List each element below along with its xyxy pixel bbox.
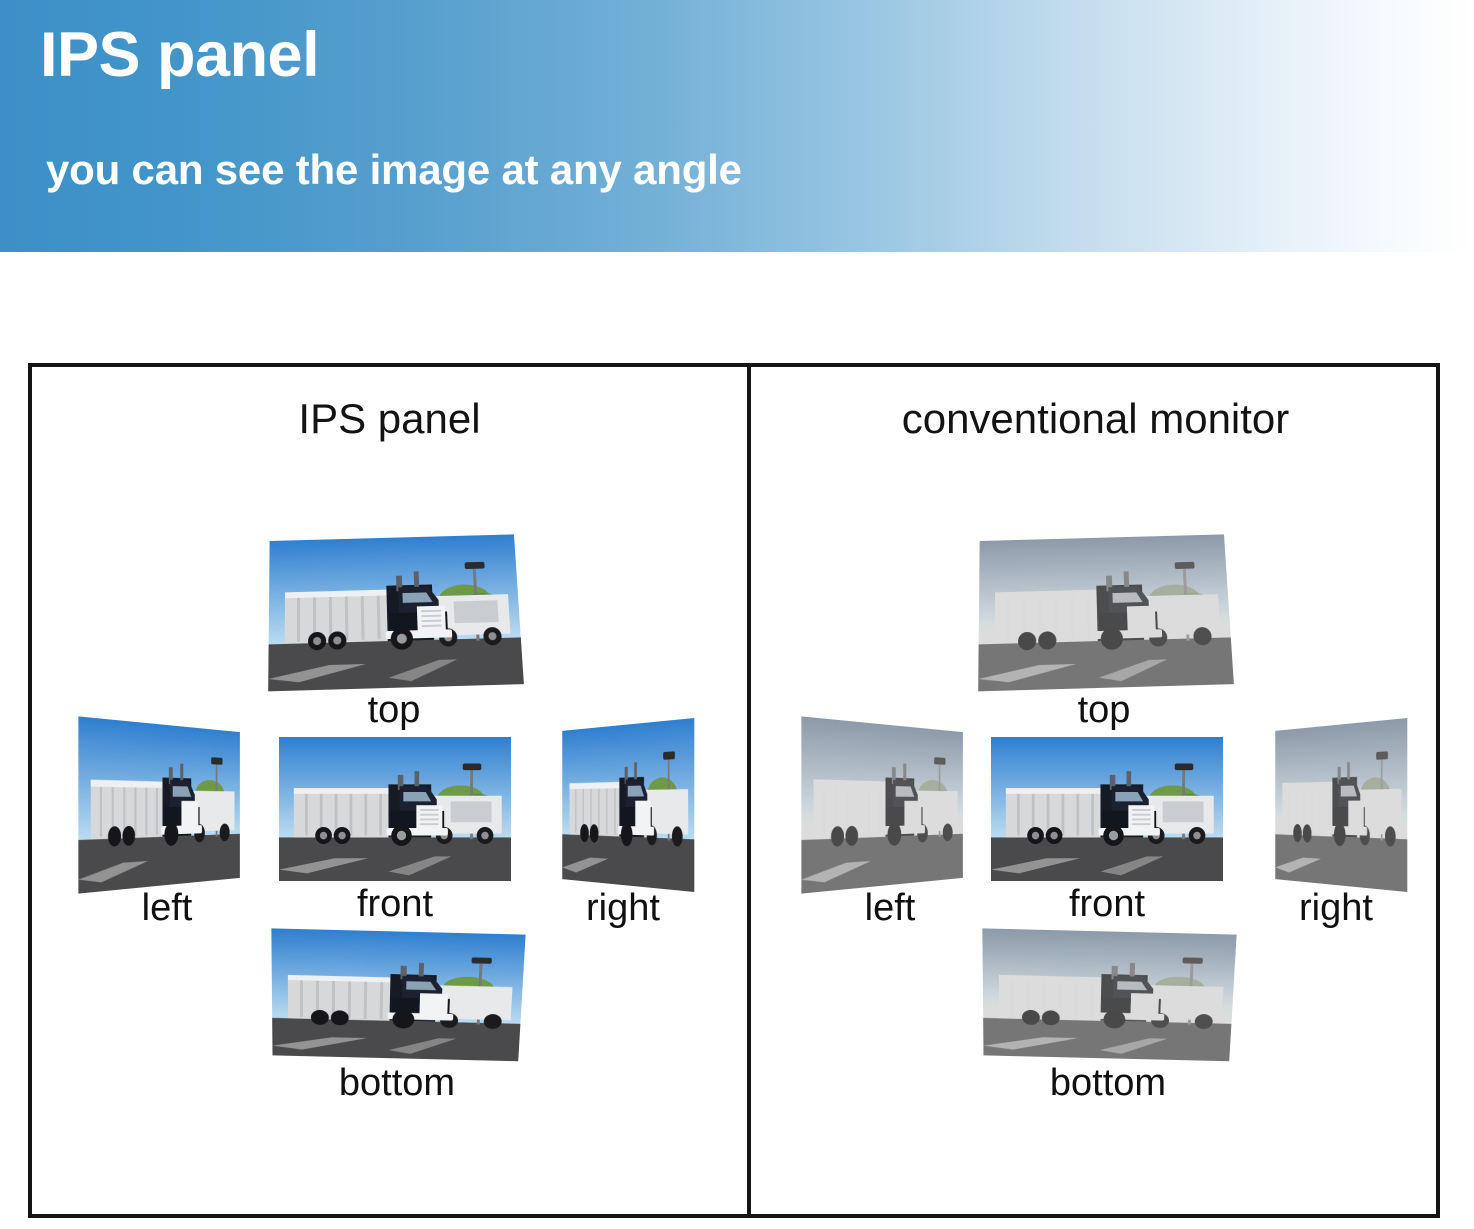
view-caption: right bbox=[1263, 889, 1409, 927]
view-caption: bottom bbox=[272, 1064, 522, 1102]
truck-photo-conventional-right bbox=[1275, 718, 1407, 892]
view-caption: bottom bbox=[983, 1064, 1233, 1102]
view-caption: left bbox=[78, 889, 256, 927]
panel-title-conventional: conventional monitor bbox=[751, 395, 1440, 443]
view-caption: left bbox=[801, 889, 979, 927]
truck-photo-conventional-top bbox=[978, 534, 1234, 691]
truck-image-icon bbox=[801, 716, 963, 893]
view-cell-conventional-bottom: bottom bbox=[983, 932, 1233, 1102]
truck-image-icon bbox=[562, 718, 694, 892]
panel-title-ips: IPS panel bbox=[32, 395, 747, 443]
truck-image-icon bbox=[991, 737, 1223, 881]
truck-image-icon bbox=[271, 928, 525, 1061]
truck-photo-ips-left bbox=[78, 716, 240, 893]
view-cell-ips-left: left bbox=[78, 725, 256, 927]
view-cell-conventional-right: right bbox=[1263, 725, 1409, 927]
truck-image-icon bbox=[982, 928, 1236, 1061]
truck-photo-conventional-left bbox=[801, 716, 963, 893]
view-cell-conventional-left: left bbox=[801, 725, 979, 927]
truck-photo-conventional-bottom bbox=[982, 928, 1236, 1061]
page-title: IPS panel bbox=[40, 22, 319, 88]
view-cell-conventional-front: front bbox=[991, 737, 1223, 923]
comparison-frame: IPS panel bbox=[28, 363, 1440, 1218]
header-banner: IPS panel you can see the image at any a… bbox=[0, 0, 1474, 252]
view-caption: front bbox=[279, 885, 511, 923]
view-caption: front bbox=[991, 885, 1223, 923]
truck-photo-conventional-front bbox=[991, 737, 1223, 881]
truck-image-icon bbox=[268, 534, 524, 691]
view-cell-ips-front: front bbox=[279, 737, 511, 923]
truck-image-icon bbox=[1275, 718, 1407, 892]
panel-conventional: conventional monitor bbox=[751, 367, 1440, 1214]
view-caption: right bbox=[550, 889, 696, 927]
truck-image-icon bbox=[978, 534, 1234, 691]
truck-photo-ips-right bbox=[562, 718, 694, 892]
page-subtitle: you can see the image at any angle bbox=[46, 146, 742, 194]
truck-photo-ips-bottom bbox=[271, 928, 525, 1061]
view-cell-ips-right: right bbox=[550, 725, 696, 927]
view-cell-ips-top: top bbox=[269, 535, 519, 729]
truck-image-icon bbox=[279, 737, 511, 881]
view-cell-conventional-top: top bbox=[979, 535, 1229, 729]
view-caption: top bbox=[269, 691, 519, 729]
view-cell-ips-bottom: bottom bbox=[272, 932, 522, 1102]
panel-ips: IPS panel bbox=[32, 367, 747, 1214]
view-caption: top bbox=[979, 691, 1229, 729]
truck-photo-ips-top bbox=[268, 534, 524, 691]
truck-photo-ips-front bbox=[279, 737, 511, 881]
truck-image-icon bbox=[78, 716, 240, 893]
